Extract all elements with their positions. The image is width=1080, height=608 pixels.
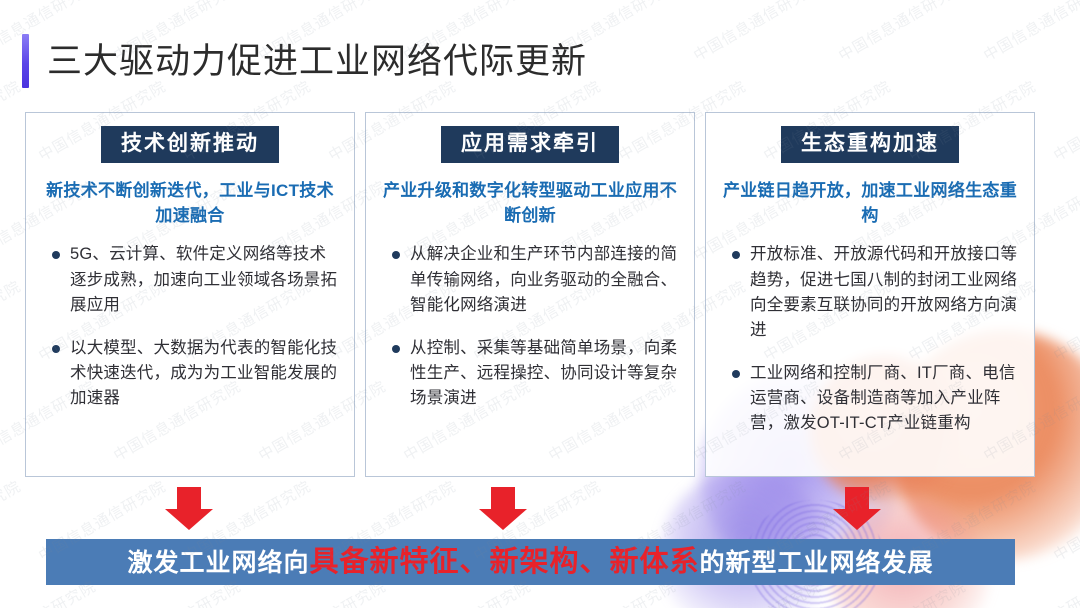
page-title: 三大驱动力促进工业网络代际更新 (47, 44, 587, 79)
watermark-text: 中国信息通信研究院 (1049, 275, 1080, 365)
driver-card-1: 技术创新推动 新技术不断创新迭代，工业与ICT技术加速融合 5G、云计算、软件定… (25, 112, 355, 477)
card-3-bullet-2-text: 工业网络和控制厂商、IT厂商、电信运营商、设备制造商等加入产业阵营，激发OT-I… (750, 361, 1018, 436)
card-1-bullet-2-text: 以大模型、大数据为代表的智能化技术快速迭代，成为为工业智能发展的加速器 (70, 336, 338, 411)
bullet-dot-icon (52, 345, 60, 353)
watermark-text: 中国信息通信研究院 (979, 0, 1080, 66)
card-3-bullet-list: 开放标准、开放源代码和开放接口等趋势，促进七国八制的封闭工业网络向全要素互联协同… (706, 242, 1034, 476)
bullet-dot-icon (392, 345, 400, 353)
conclusion-banner: 激发工业网络向具备新特征、新架构、新体系的新型工业网络发展 (46, 539, 1015, 585)
list-item: 从解决企业和生产环节内部连接的简单传输网络，向业务驱动的全融合、智能化网络演进 (392, 242, 678, 317)
list-item: 5G、云计算、软件定义网络等技术逐步成熟，加速向工业领域各场景拓展应用 (52, 242, 338, 317)
card-2-bullet-2-text: 从控制、采集等基础简单场景，向柔性生产、远程操控、协同设计等复杂场景演进 (410, 336, 678, 411)
list-item: 以大模型、大数据为代表的智能化技术快速迭代，成为为工业智能发展的加速器 (52, 336, 338, 411)
down-arrow-icon-3 (828, 487, 886, 531)
bullet-dot-icon (52, 251, 60, 259)
card-1-bullet-list: 5G、云计算、软件定义网络等技术逐步成熟，加速向工业领域各场景拓展应用 以大模型… (26, 242, 354, 476)
card-1-subtitle: 新技术不断创新迭代，工业与ICT技术加速融合 (26, 179, 354, 228)
watermark-text: 中国信息通信研究院 (1049, 75, 1080, 165)
page-title-row: 三大驱动力促进工业网络代际更新 (22, 34, 587, 88)
watermark-text: 中国信息通信研究院 (0, 275, 25, 365)
card-3-badge: 生态重构加速 (781, 126, 959, 163)
title-accent-bar (22, 34, 29, 88)
driver-card-3: 生态重构加速 产业链日趋开放，加速工业网络生态重构 开放标准、开放源代码和开放接… (705, 112, 1035, 477)
card-2-bullet-1-text: 从解决企业和生产环节内部连接的简单传输网络，向业务驱动的全融合、智能化网络演进 (410, 242, 678, 317)
list-item: 工业网络和控制厂商、IT厂商、电信运营商、设备制造商等加入产业阵营，激发OT-I… (732, 361, 1018, 436)
bullet-dot-icon (392, 251, 400, 259)
down-arrow-icon-2 (474, 487, 532, 531)
list-item: 开放标准、开放源代码和开放接口等趋势，促进七国八制的封闭工业网络向全要素互联协同… (732, 242, 1018, 342)
bullet-dot-icon (732, 251, 740, 259)
watermark-text: 中国信息通信研究院 (1049, 475, 1080, 565)
watermark-text: 中国信息通信研究院 (689, 0, 824, 66)
card-2-bullet-list: 从解决企业和生产环节内部连接的简单传输网络，向业务驱动的全融合、智能化网络演进 … (366, 242, 694, 476)
down-arrow-icon-1 (160, 487, 218, 531)
banner-prefix: 激发工业网络向 (127, 549, 309, 577)
card-2-badge: 应用需求牵引 (441, 126, 619, 163)
list-item: 从控制、采集等基础简单场景，向柔性生产、远程操控、协同设计等复杂场景演进 (392, 336, 678, 411)
bullet-dot-icon (732, 370, 740, 378)
card-1-bullet-1-text: 5G、云计算、软件定义网络等技术逐步成熟，加速向工业领域各场景拓展应用 (70, 242, 338, 317)
driver-cards-container: 技术创新推动 新技术不断创新迭代，工业与ICT技术加速融合 5G、云计算、软件定… (25, 112, 1035, 477)
banner-highlight: 具备新特征、新架构、新体系 (309, 546, 699, 578)
card-2-subtitle: 产业升级和数字化转型驱动工业应用不断创新 (366, 179, 694, 228)
slide-canvas: 三大驱动力促进工业网络代际更新 技术创新推动 新技术不断创新迭代，工业与ICT技… (0, 0, 1080, 608)
card-3-bullet-1-text: 开放标准、开放源代码和开放接口等趋势，促进七国八制的封闭工业网络向全要素互联协同… (750, 242, 1018, 342)
watermark-text: 中国信息通信研究院 (0, 475, 25, 565)
card-3-subtitle: 产业链日趋开放，加速工业网络生态重构 (706, 179, 1034, 228)
driver-card-2: 应用需求牵引 产业升级和数字化转型驱动工业应用不断创新 从解决企业和生产环节内部… (365, 112, 695, 477)
banner-suffix: 的新型工业网络发展 (700, 549, 934, 577)
conclusion-banner-text: 激发工业网络向具备新特征、新架构、新体系的新型工业网络发展 (127, 548, 933, 577)
watermark-text: 中国信息通信研究院 (0, 75, 25, 165)
card-1-badge: 技术创新推动 (101, 126, 279, 163)
watermark-text: 中国信息通信研究院 (834, 0, 969, 66)
